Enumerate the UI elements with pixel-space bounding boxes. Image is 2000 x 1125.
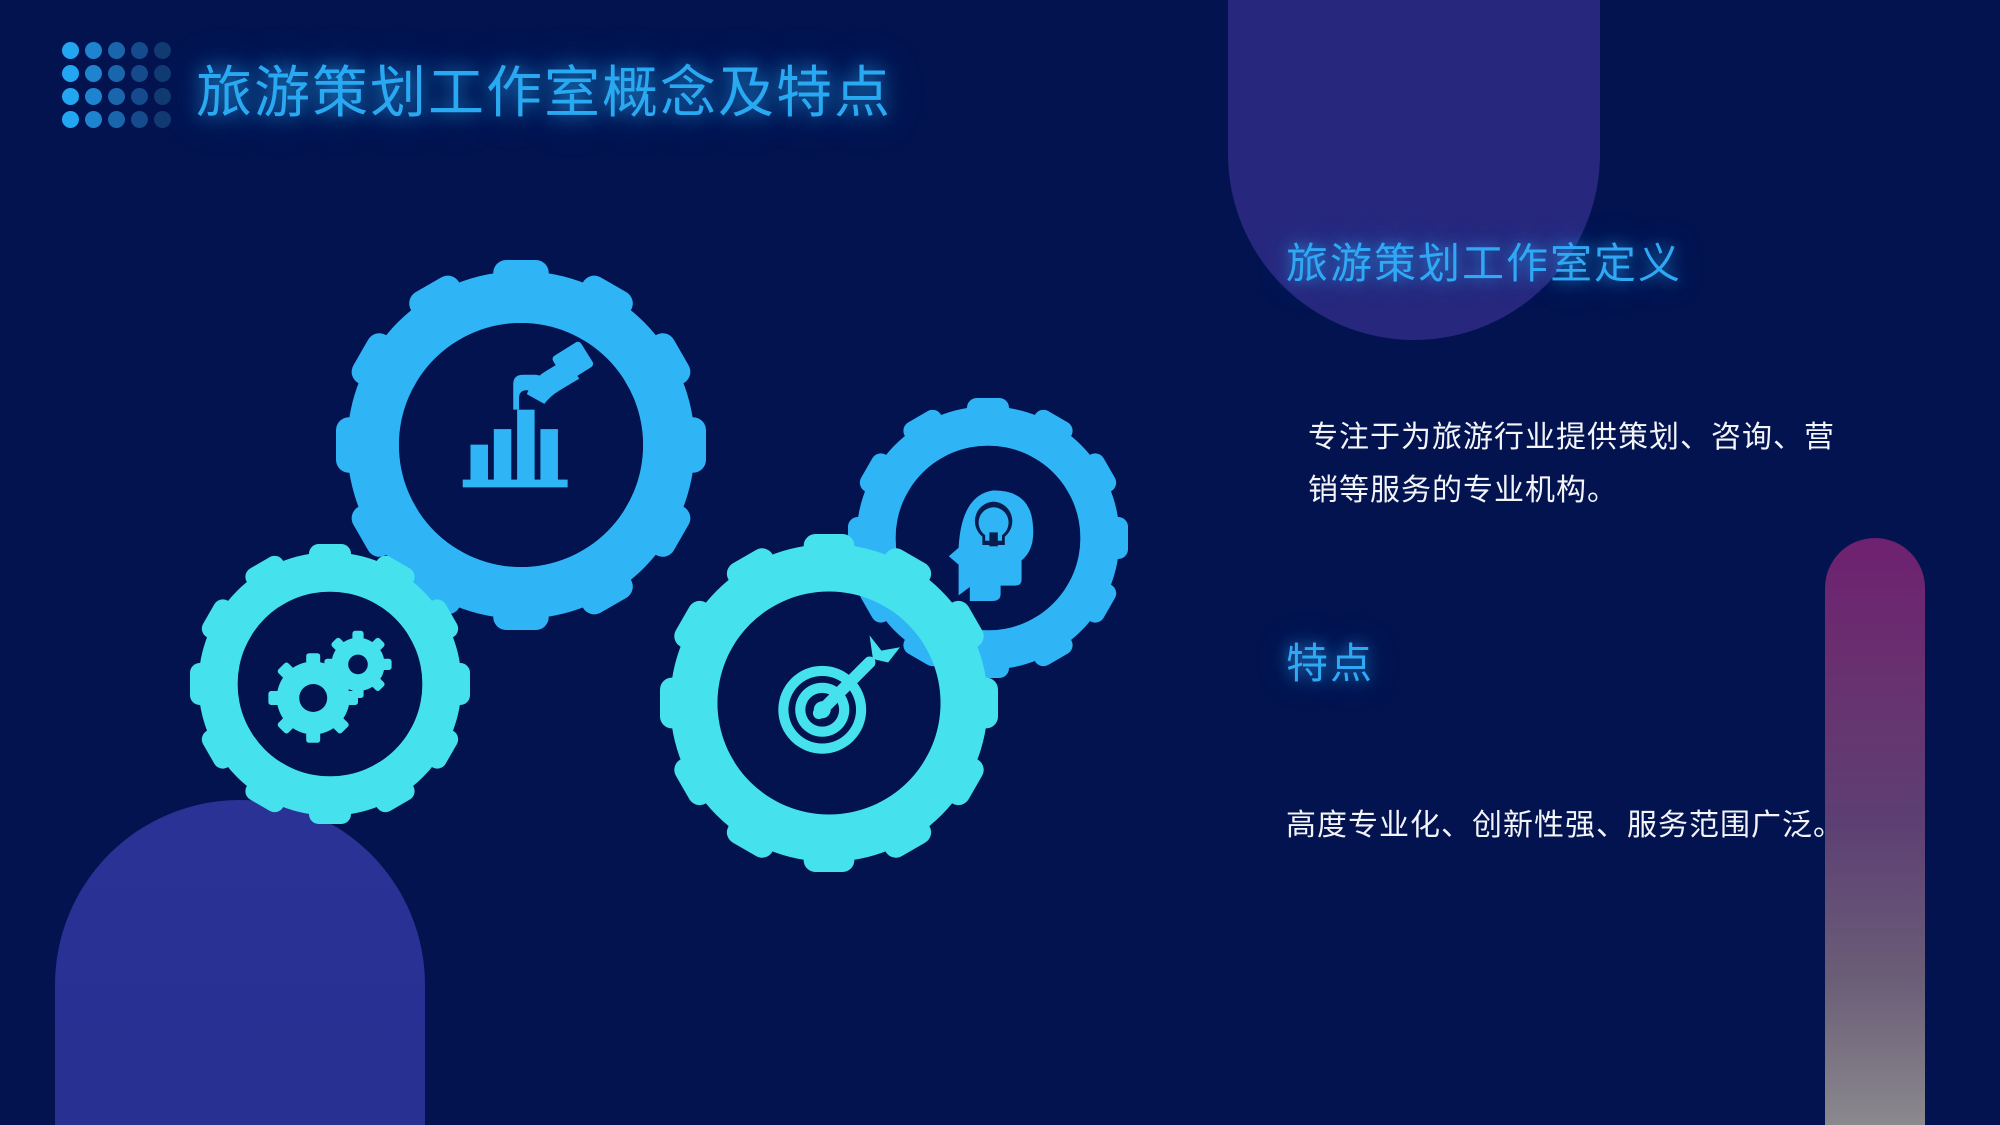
dot [62,111,79,128]
gear-illustration [200,280,1200,960]
gear-cogs [190,544,470,824]
gear-target [660,534,998,872]
bar-chart-hand-icon [463,340,595,487]
cogs-icon [268,631,391,743]
dot [131,42,148,59]
dot [62,88,79,105]
dot [108,111,125,128]
dot [131,65,148,82]
dot [108,42,125,59]
dot [154,111,171,128]
section-body-features: 高度专业化、创新性强、服务范围广泛。 [1286,800,1846,853]
section-heading-definition: 旅游策划工作室定义 [1286,230,1682,291]
dot-grid-decoration [62,42,177,134]
dot [131,111,148,128]
dot [62,65,79,82]
section-heading-features: 特点 [1286,630,1374,691]
dot [85,42,102,59]
dot [131,88,148,105]
dot [108,88,125,105]
dot [154,65,171,82]
dot [154,88,171,105]
dot [85,88,102,105]
dot [154,42,171,59]
dot [108,65,125,82]
dot [62,42,79,59]
section-body-definition: 专注于为旅游行业提供策划、咨询、营销等服务的专业机构。 [1308,412,1848,517]
dot [85,111,102,128]
dot [85,65,102,82]
presentation-slide: 旅游策划工作室概念及特点 [0,0,2000,1125]
target-arrow-icon [778,635,900,753]
slide-title: 旅游策划工作室概念及特点 [196,48,892,129]
